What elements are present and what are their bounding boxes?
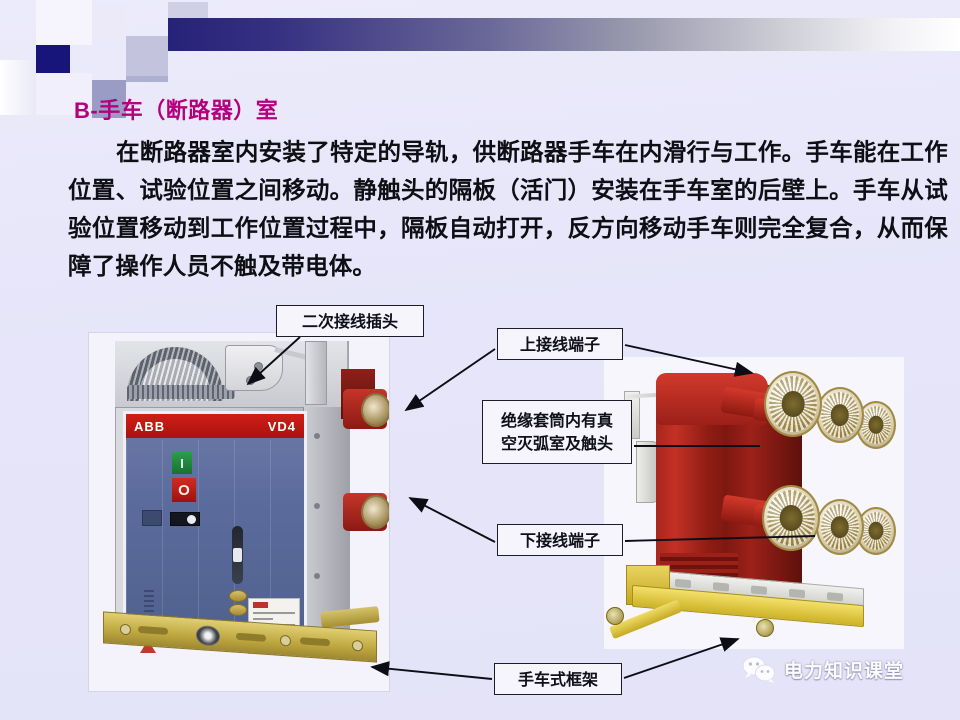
watermark: 电力知识课堂 [742,655,904,683]
base-slot [236,633,266,642]
upper-contact-icon [361,393,390,427]
lower-contact-finger-1 [762,485,820,551]
side-hole-2 [314,503,320,509]
lever-pin-2 [246,376,255,385]
brand-banner: ABB VD4 [126,414,304,438]
callout-upper-terminal: 上接线端子 [497,328,623,360]
spring-charge-window [142,510,162,526]
rail-slot [751,585,767,594]
open-button[interactable]: O [172,478,196,502]
body-paragraph: 在断路器室内安装了特定的导轨，供断路器手车在内滑行与工作。手车能在工作位置、试验… [68,133,948,285]
base-bolt [120,624,131,636]
model-label: VD4 [268,419,296,434]
header-square-navy [36,45,70,73]
page-title-prefix: B- [74,98,98,123]
connector-truck-frame-left [372,667,492,679]
slide-canvas: B-手车（断路器）室 在断路器室内安装了特定的导轨，供断路器手车在内滑行与工作。… [0,0,960,720]
base-bolt [352,640,363,652]
connector-lower-terminal-left [410,498,495,542]
charging-knob-lower[interactable] [229,604,247,616]
page-title-text: 手车（断路器）室 [98,99,278,124]
wechat-icon [742,655,776,683]
callout-secondary-plug: 二次接线插头 [276,305,424,337]
side-hole-3 [314,573,320,579]
truck-wheel-left [606,607,624,625]
nameplate-line [253,618,273,620]
conduit-tail [127,385,235,399]
watermark-text: 电力知识课堂 [784,656,904,683]
lower-contact-icon [361,495,390,529]
close-button[interactable]: I [172,452,192,474]
truck-wheel [196,625,220,647]
header-square-light [92,4,126,38]
header-square-small [168,2,208,18]
header-square-midline [126,76,168,82]
callout-lower-terminal: 下接线端子 [497,524,623,556]
photo-vd4-breaker: ABB VD4 I O [88,332,390,692]
header-square-mid [126,36,168,76]
header-gradient-bar [168,18,960,51]
base-slot [300,637,330,646]
rail-slot [713,582,729,591]
header-square-top [36,0,92,45]
callout-truck-frame: 手车式框架 [494,663,622,695]
header-square-fade [0,60,36,115]
upper-contact-finger-1 [764,371,822,437]
nameplate-line [253,612,295,614]
lower-contact-finger-2 [816,499,864,555]
charging-knob-upper[interactable] [229,590,247,602]
page-title: B-手车（断路器）室 [74,93,278,125]
rail-slot [789,589,805,598]
rail-slot [675,579,691,588]
callout-insulating-sleeve: 绝缘套筒内有真 空灭弧室及触头 [482,400,632,464]
breaker-faceplate: ABB VD4 I O [123,411,307,635]
upper-contact-finger-2 [816,387,864,443]
counter-window [233,548,242,562]
base-slot [138,626,168,635]
photo-red-breaker [604,357,904,649]
base-bolt [280,635,291,647]
status-indicator [170,512,200,526]
nameplate-logo [253,602,268,608]
rail-slot [827,592,843,601]
truck-wheel-right [756,619,774,637]
brand-label: ABB [134,419,165,434]
chassis-post [305,341,327,405]
lever-pin-1 [254,362,263,371]
side-hole-1 [314,433,320,439]
operation-counter-slot [232,526,243,584]
indicator-dot [187,515,196,524]
